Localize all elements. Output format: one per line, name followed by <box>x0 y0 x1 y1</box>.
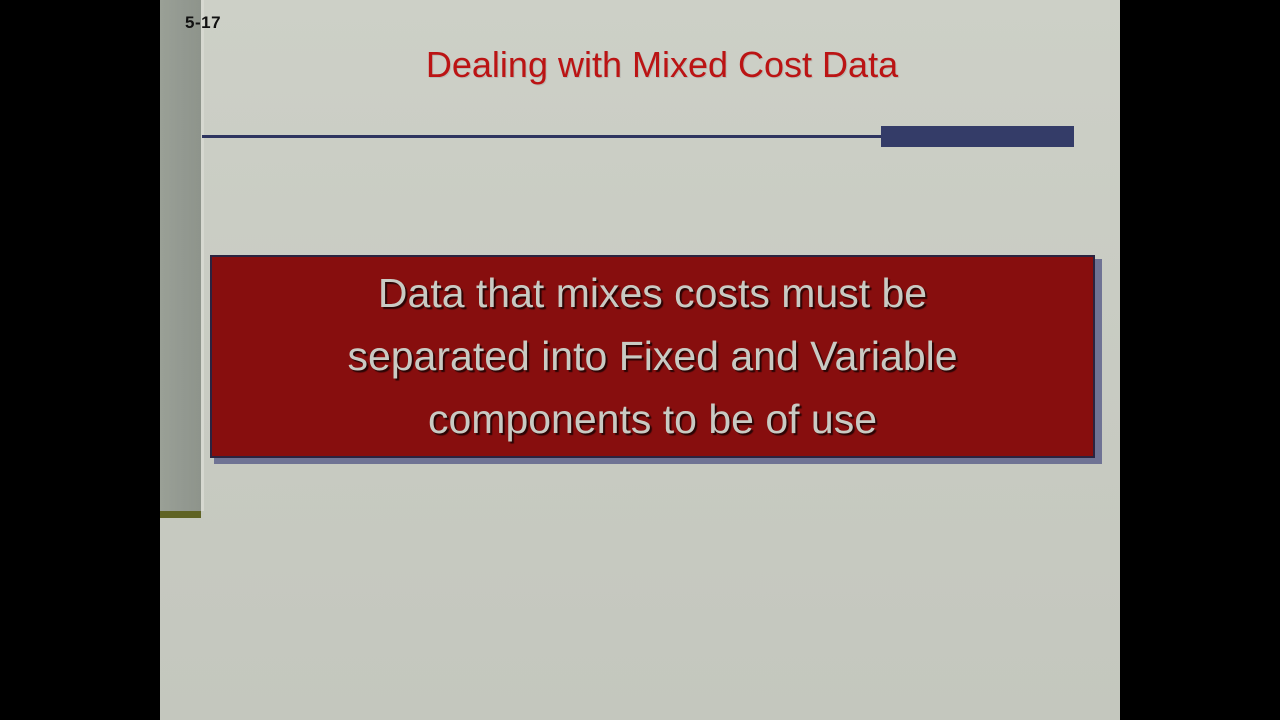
callout-box: Data that mixes costs must be separated … <box>210 255 1095 458</box>
sidebar-accent-bar <box>160 511 201 518</box>
callout-text: Data that mixes costs must be separated … <box>212 262 1093 451</box>
title-underline-rule <box>202 135 882 138</box>
callout-line-1: Data that mixes costs must be <box>212 262 1093 325</box>
presentation-viewer: 5-17 Dealing with Mixed Cost Data Data t… <box>0 0 1280 720</box>
callout-line-3: components to be of use <box>212 388 1093 451</box>
page-title: Dealing with Mixed Cost Data <box>204 44 1120 86</box>
letterbox-right <box>1120 0 1280 720</box>
title-accent-block <box>881 126 1074 147</box>
callout-line-2: separated into Fixed and Variable <box>212 325 1093 388</box>
slide-number: 5-17 <box>185 13 221 33</box>
sidebar-decoration-strip <box>160 0 201 511</box>
slide-canvas: 5-17 Dealing with Mixed Cost Data Data t… <box>160 0 1120 720</box>
letterbox-left <box>0 0 160 720</box>
